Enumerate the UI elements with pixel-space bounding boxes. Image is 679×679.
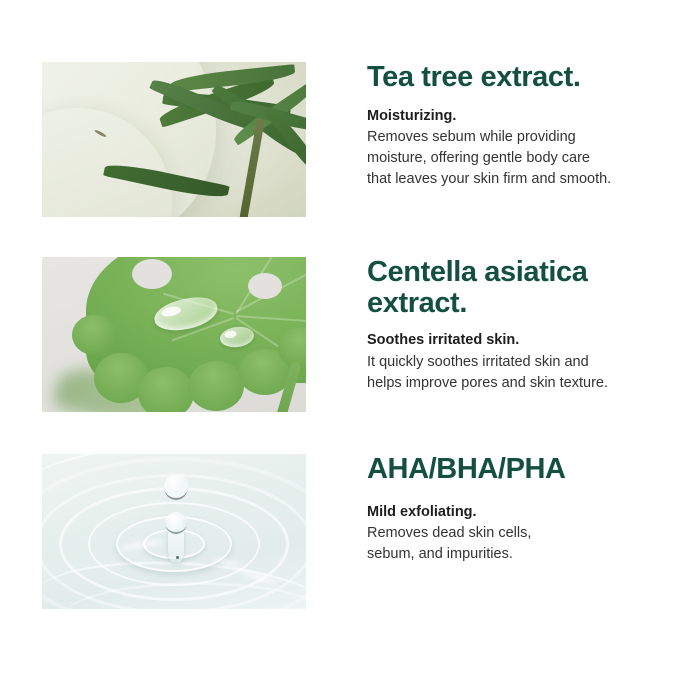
section-subhead: Soothes irritated skin. [367,330,657,351]
leaf-lobe [188,361,244,411]
ingredient-benefits-page: Tea tree extract. Moisturizing. Removes … [0,0,679,679]
leaf-notch [132,259,172,289]
tea-tree-image [42,62,306,217]
leaf-lobe [72,315,116,355]
leaf-vein [236,315,306,323]
ingredient-section-aha-bha-pha: AHA/BHA/PHA Mild exfoliating. Removes de… [0,454,679,609]
ingredient-section-centella: Centella asiatica extract. Soothes irrit… [0,257,679,412]
section-body: Removes sebum while providing moisture, … [367,127,657,190]
centella-image [42,257,306,412]
leaf-notch [248,273,282,299]
falling-droplet [164,474,188,500]
leaf-lobe [138,367,194,412]
water-ripple-image [42,454,306,609]
section-body: It quickly soothes irritated skin and he… [367,352,657,394]
centella-text-block: Centella asiatica extract. Soothes irrit… [367,257,657,394]
tea-tree-text-block: Tea tree extract. Moisturizing. Removes … [367,62,657,190]
section-body: Removes dead skin cells, sebum, and impu… [367,523,657,565]
ingredient-section-tea-tree: Tea tree extract. Moisturizing. Removes … [0,62,679,217]
section-subhead: Mild exfoliating. [367,502,657,523]
section-subhead: Moisturizing. [367,106,657,127]
section-heading: Tea tree extract. [367,62,657,93]
section-heading: Centella asiatica extract. [367,257,657,318]
splash-speck [176,556,179,559]
aha-bha-pha-text-block: AHA/BHA/PHA Mild exfoliating. Removes de… [367,454,657,565]
section-heading: AHA/BHA/PHA [367,454,657,485]
